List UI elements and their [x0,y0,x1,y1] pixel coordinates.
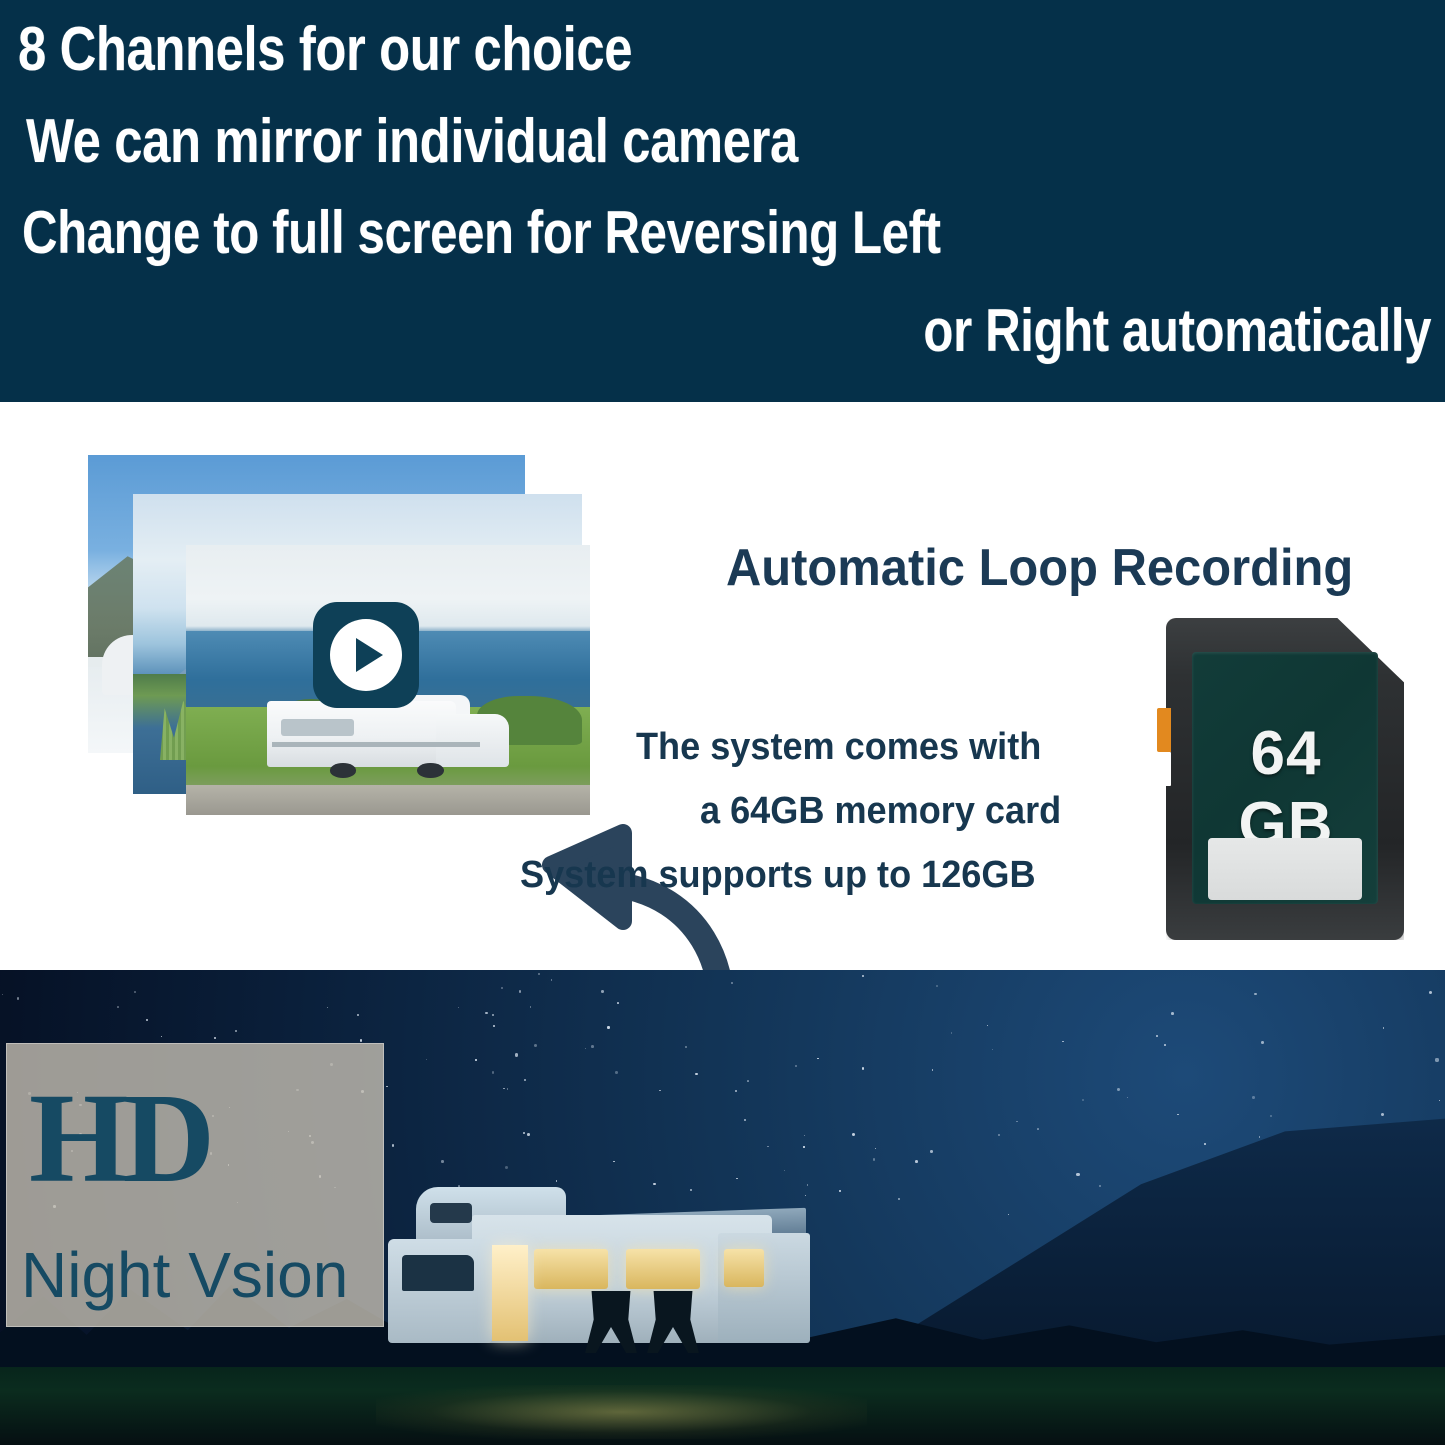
rv-night-illustration [388,1145,858,1363]
star [458,1007,459,1008]
star [1117,1088,1120,1091]
star [1252,1096,1255,1099]
night-vision-label: Night Vsion [21,1238,348,1312]
star [601,990,604,993]
star [235,1030,237,1032]
star [930,1150,933,1153]
star [617,1002,619,1004]
star [1164,1044,1166,1046]
star [1383,1027,1384,1028]
star [161,1036,162,1037]
star [1171,1012,1174,1015]
star [426,1059,427,1060]
hd-night-vision-badge: HD Night Vsion [6,1043,384,1327]
star [524,1079,526,1081]
star [534,1044,537,1047]
star [1016,1121,1018,1123]
loop-recording-title: Automatic Loop Recording [726,538,1353,598]
star [327,1007,329,1009]
rv-lit-doorway [492,1245,528,1341]
star [744,1119,746,1121]
star [987,1025,988,1026]
play-triangle-icon [356,638,383,672]
rv-cab-shape [436,714,509,767]
sd-card-lock-slot [1157,752,1171,786]
star [492,1014,494,1016]
star [503,1088,505,1090]
loop-body-line-2: a 64GB memory card [700,790,1061,833]
star [932,1069,933,1070]
play-icon [330,619,402,691]
star [1435,1058,1438,1061]
star [1099,1185,1101,1187]
star [862,975,864,977]
star [873,1158,876,1161]
rv-luton-window [430,1203,472,1223]
star [747,1080,749,1082]
star [1037,1128,1039,1130]
star [1254,993,1256,995]
star [214,1037,216,1039]
header-line-4: or Right automatically [923,296,1431,365]
star [134,991,136,993]
star [731,982,733,984]
star [795,1065,797,1067]
star [804,1135,805,1136]
rv-wheel-front [330,763,357,778]
star [685,1046,687,1048]
rv-lit-window-1 [534,1249,608,1289]
star [530,1006,531,1007]
star [527,1133,530,1136]
star [1270,1115,1273,1118]
star [607,1026,609,1028]
rv-lit-window-2 [626,1249,700,1289]
sd-card-write-area [1208,838,1362,900]
rv-window-shape [281,719,354,736]
rv-wheel-rear [417,763,444,778]
star [875,1148,876,1149]
star [1127,1097,1128,1098]
play-button[interactable] [313,602,419,708]
star [659,1090,661,1092]
star [1381,1113,1384,1116]
star [492,1071,494,1073]
sd-card-lock-switch [1157,708,1171,752]
star [915,1160,918,1163]
star [1259,1136,1261,1138]
star [501,987,504,990]
star [898,1198,900,1200]
star [1156,1035,1158,1037]
road-shape [186,785,590,815]
star [992,1049,993,1050]
star [117,1006,119,1008]
star [1204,1143,1206,1145]
star [1076,1173,1079,1176]
rv-stripe-shape [272,742,480,747]
star [386,1086,387,1087]
star [519,990,522,993]
curved-arrow-counterclockwise-icon [545,827,755,970]
star [585,1048,586,1049]
rv-night-cab-window [402,1255,474,1291]
star [146,1019,148,1021]
star [538,973,541,976]
loop-body-line-1: The system comes with [636,726,1041,769]
star [1261,1041,1264,1044]
star [615,1071,618,1074]
star [735,1090,737,1092]
star [998,1134,1000,1136]
star [852,1133,855,1136]
star [862,1067,865,1070]
star [485,1012,487,1014]
star [1429,991,1432,994]
star [17,997,20,1000]
header-banner: 8 Channels for our choice We can mirror … [0,0,1445,402]
star [2,994,3,995]
hd-logo-text: HD [29,1074,209,1202]
star [1082,1099,1084,1101]
star [591,1045,594,1048]
star [475,1059,476,1060]
star [551,979,553,981]
rv-lit-window-3 [724,1249,764,1287]
star [951,1032,952,1033]
header-line-2: We can mirror individual camera [26,106,798,177]
star [1177,1114,1179,1116]
star [515,1053,518,1056]
star [1008,1214,1009,1215]
star [695,1073,698,1076]
header-line-3: Change to full screen for Reversing Left [22,198,941,267]
star [936,985,938,987]
star [360,1039,362,1041]
star [507,1088,509,1090]
star [357,1014,359,1016]
header-line-1: 8 Channels for our choice [18,14,632,85]
star [1062,1041,1063,1042]
star [1439,1100,1440,1101]
star [523,1132,525,1134]
ground-light-glow [376,1385,867,1439]
loop-body-line-3: System supports up to 126GB [520,854,1036,897]
star [493,1025,495,1027]
star [817,1058,819,1060]
